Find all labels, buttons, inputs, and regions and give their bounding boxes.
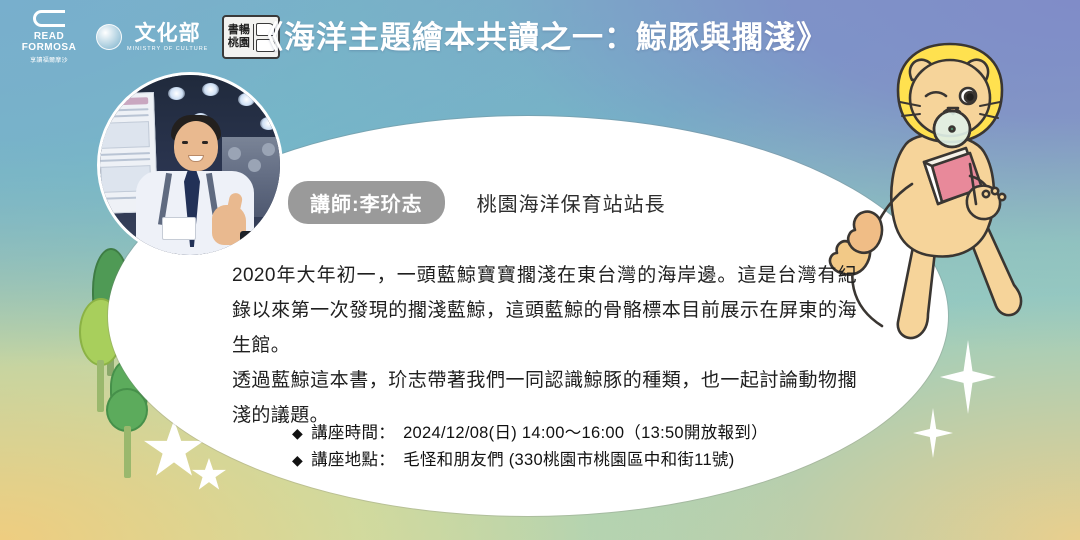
wristwatch — [240, 231, 256, 242]
event-detail-row-time: ◆ 講座時間： 2024/12/08(日) 14:00～16:00（13:50開… — [292, 420, 768, 447]
speaker-row: 講師:李玠志 桃園海洋保育站站長 — [288, 181, 666, 224]
event-time-value: 2024/12/08(日) 14:00～16:00（13:50開放報到） — [403, 420, 768, 447]
sparkle-4point-small-icon — [913, 408, 953, 458]
lion-mascot-icon — [820, 36, 1070, 366]
diamond-bullet-icon: ◆ — [292, 420, 303, 447]
poster-root: READ FORMOSA 享讀福爾摩沙 文化部 MINISTRY OF CULT… — [0, 0, 1080, 540]
speaker-photo — [97, 72, 283, 258]
diamond-bullet-icon: ◆ — [292, 447, 303, 474]
event-location-label: 講座地點： — [311, 447, 395, 474]
name-badge — [162, 217, 196, 240]
speaker-role-label: 桃園海洋保育站站長 — [477, 188, 666, 217]
speaker-name-badge: 講師:李玠志 — [288, 181, 445, 224]
event-details: ◆ 講座時間： 2024/12/08(日) 14:00～16:00（13:50開… — [292, 420, 768, 474]
event-location-value: 毛怪和朋友們 (330桃園市桃園區中和街11號) — [403, 447, 734, 474]
event-time-label: 講座時間： — [311, 420, 395, 447]
star-5point-small-icon — [192, 458, 226, 491]
event-detail-row-location: ◆ 講座地點： 毛怪和朋友們 (330桃園市桃園區中和街11號) — [292, 447, 768, 474]
description-text: 2020年大年初一，一頭藍鯨寶寶擱淺在東台灣的海岸邊。這是台灣有紀錄以來第一次發… — [232, 258, 857, 433]
description-paragraph-1: 2020年大年初一，一頭藍鯨寶寶擱淺在東台灣的海岸邊。這是台灣有紀錄以來第一次發… — [232, 258, 857, 363]
